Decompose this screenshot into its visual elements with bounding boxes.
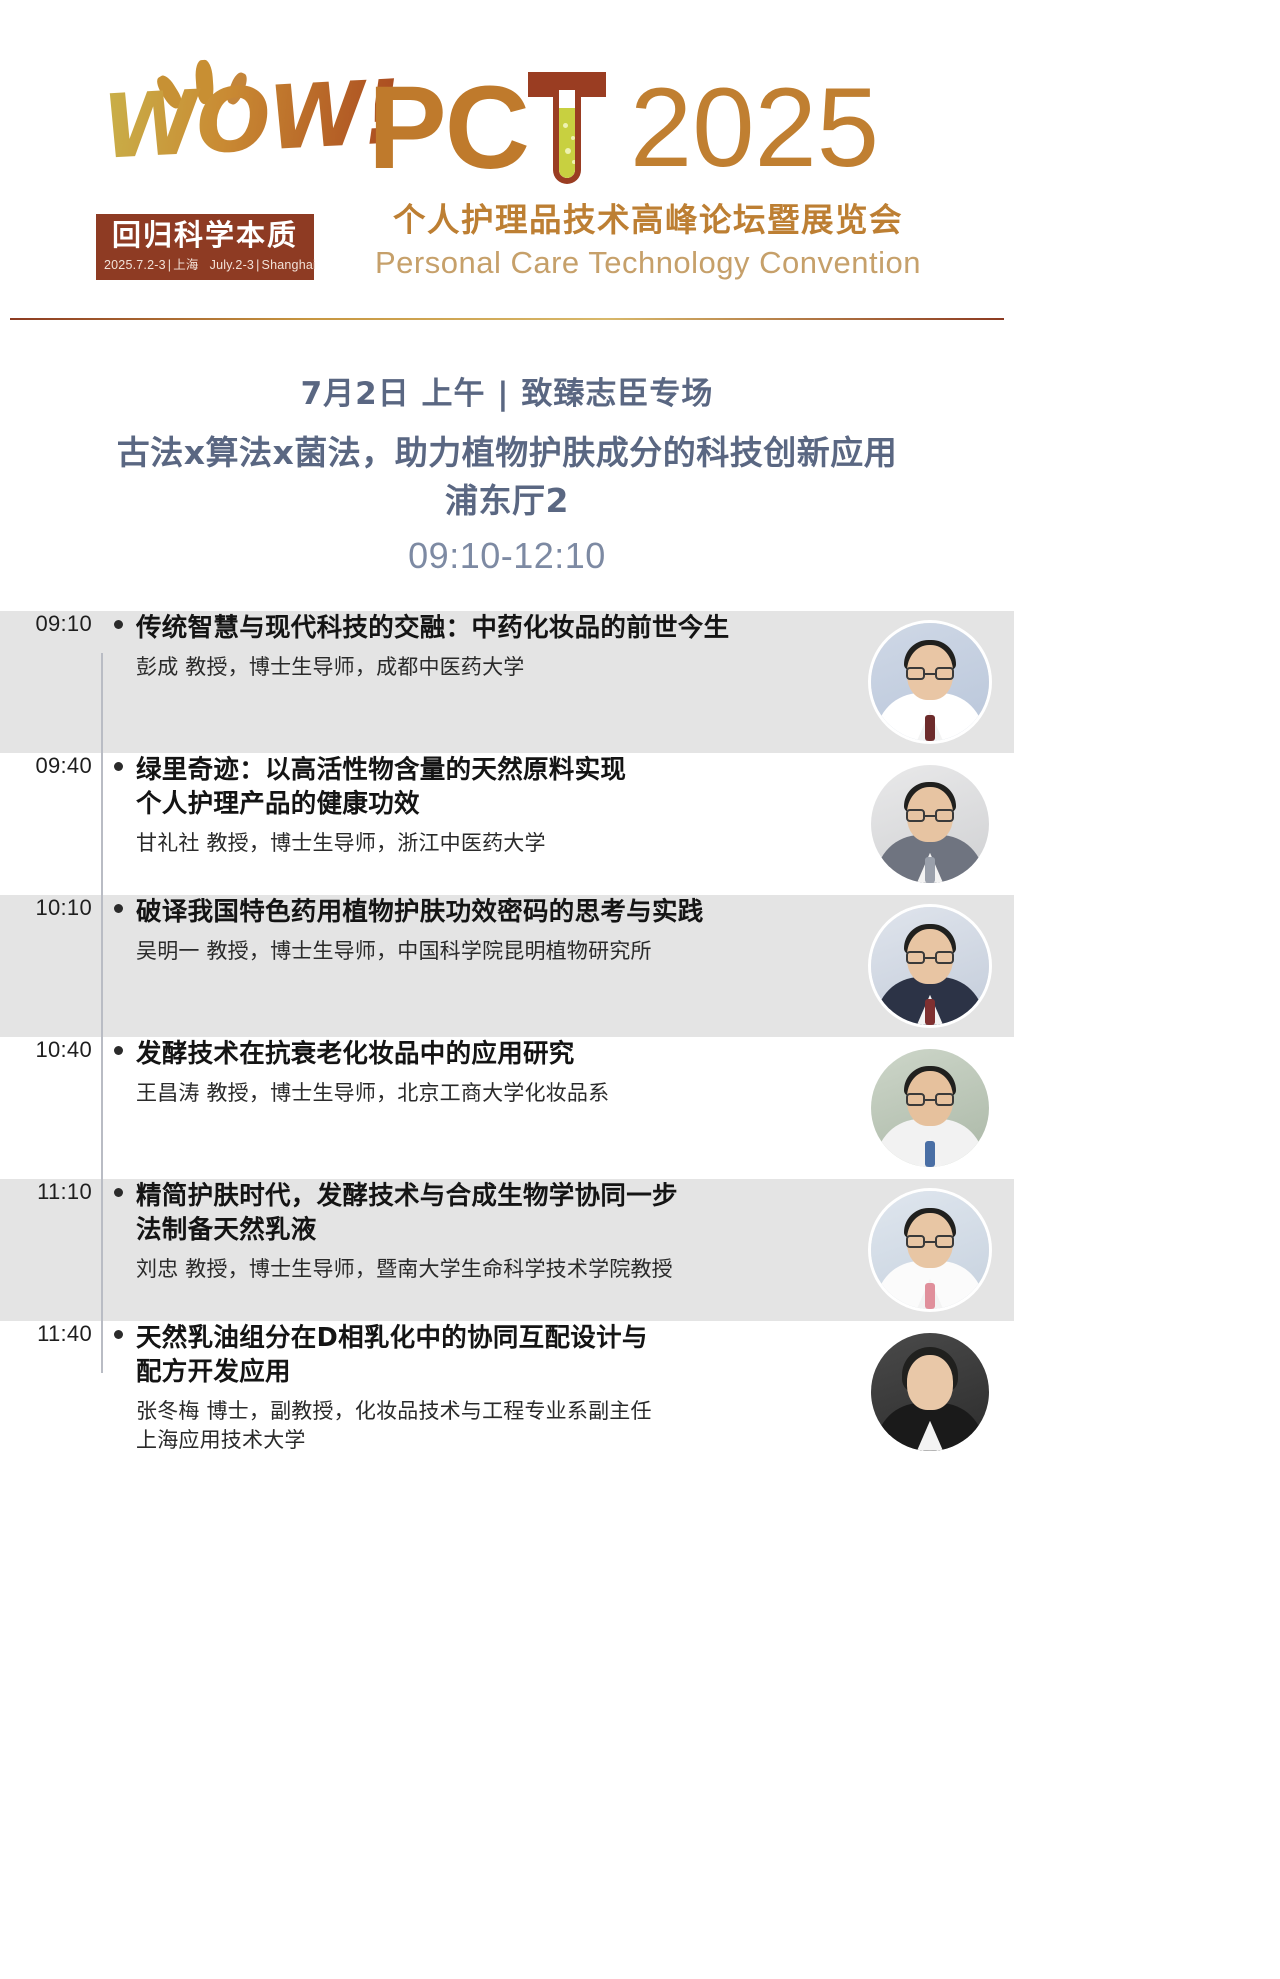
avatar (871, 1191, 989, 1309)
agenda-time: 11:10 (0, 1179, 100, 1205)
agenda-speaker: 刘忠 教授，博士生导师，暨南大学生命科学技术学院教授 (136, 1255, 826, 1284)
session-topic: 古法x算法x菌法，助力植物护肤成分的科技创新应用 (60, 429, 954, 477)
timeline-dot-icon (100, 1037, 136, 1055)
timeline-dot-icon (100, 1321, 136, 1339)
theme-badge-dateline: 2025.7.2-3|上海July.2-3|Shanghai (104, 254, 306, 273)
agenda-content: 天然乳油组分在D相乳化中的协同互配设计与配方开发应用张冬梅 博士，副教授，化妆品… (136, 1321, 846, 1455)
agenda-talk-title: 传统智慧与现代科技的交融：中药化妆品的前世今生 (136, 611, 826, 645)
agenda-time: 09:40 (0, 753, 100, 779)
agenda-content: 精简护肤时代，发酵技术与合成生物学协同一步法制备天然乳液刘忠 教授，博士生导师，… (136, 1179, 846, 1284)
badge-sep-2: | (254, 258, 261, 272)
agenda-speaker: 彭成 教授，博士生导师，成都中医药大学 (136, 653, 826, 682)
test-tube-icon (524, 62, 610, 184)
timeline-dot-icon (100, 895, 136, 913)
avatar-cell (846, 907, 1014, 1025)
timeline-dot-icon (100, 611, 136, 629)
avatar-cell (846, 1333, 1014, 1451)
brand-subtitle-cn: 个人护理品技术高峰论坛暨展览会 (368, 194, 928, 241)
page-header: WOW! WOW! 回归科学本质 2025.7.2-3|上海July.2-3|S… (0, 0, 1014, 320)
agenda-talk-title: 天然乳油组分在D相乳化中的协同互配设计与配方开发应用 (136, 1321, 826, 1389)
wow-logo-text: WOW! (100, 60, 402, 178)
avatar-cell (846, 623, 1014, 741)
agenda-content: 绿里奇迹：以高活性物含量的天然原料实现个人护理产品的健康功效甘礼社 教授，博士生… (136, 753, 846, 858)
avatar (871, 623, 989, 741)
agenda-row[interactable]: 10:40发酵技术在抗衰老化妆品中的应用研究王昌涛 教授，博士生导师，北京工商大… (0, 1037, 1014, 1179)
agenda-content: 破译我国特色药用植物护肤功效密码的思考与实践吴明一 教授，博士生导师，中国科学院… (136, 895, 846, 966)
avatar (871, 1049, 989, 1167)
badge-city-cn: 上海 (173, 258, 198, 272)
avatar (871, 907, 989, 1025)
session-header: 7月2日 上午 | 致臻志臣专场 古法x算法x菌法，助力植物护肤成分的科技创新应… (0, 320, 1014, 611)
header-divider (10, 318, 1004, 320)
agenda-row[interactable]: 11:10精简护肤时代，发酵技术与合成生物学协同一步法制备天然乳液刘忠 教授，博… (0, 1179, 1014, 1321)
brand-letters: PC (368, 72, 528, 184)
agenda-speaker: 吴明一 教授，博士生导师，中国科学院昆明植物研究所 (136, 937, 826, 966)
session-room: 浦东厅2 (60, 477, 954, 525)
theme-badge: 回归科学本质 2025.7.2-3|上海July.2-3|Shanghai (96, 214, 314, 280)
avatar-cell (846, 1049, 1014, 1167)
agenda-row[interactable]: 09:10传统智慧与现代科技的交融：中药化妆品的前世今生彭成 教授，博士生导师，… (0, 611, 1014, 753)
agenda-list: 09:10传统智慧与现代科技的交融：中药化妆品的前世今生彭成 教授，博士生导师，… (0, 611, 1014, 1493)
agenda-talk-title: 精简护肤时代，发酵技术与合成生物学协同一步法制备天然乳液 (136, 1179, 826, 1247)
wow-logo-art: WOW! WOW! (96, 50, 346, 210)
wow-logo-block: WOW! WOW! 回归科学本质 2025.7.2-3|上海July.2-3|S… (96, 50, 346, 280)
agenda-content: 发酵技术在抗衰老化妆品中的应用研究王昌涛 教授，博士生导师，北京工商大学化妆品系 (136, 1037, 846, 1108)
avatar (871, 765, 989, 883)
agenda-talk-title: 绿里奇迹：以高活性物含量的天然原料实现个人护理产品的健康功效 (136, 753, 826, 821)
badge-date-en: July.2-3 (210, 258, 254, 272)
agenda-time: 11:40 (0, 1321, 100, 1347)
agenda-speaker: 王昌涛 教授，博士生导师，北京工商大学化妆品系 (136, 1079, 826, 1108)
session-time-range: 09:10-12:10 (60, 535, 954, 577)
brand-year: 2025 (630, 72, 879, 184)
agenda-row[interactable]: 09:40绿里奇迹：以高活性物含量的天然原料实现个人护理产品的健康功效甘礼社 教… (0, 753, 1014, 895)
session-date-track: 7月2日 上午 | 致臻志臣专场 (60, 368, 954, 413)
agenda-content: 传统智慧与现代科技的交融：中药化妆品的前世今生彭成 教授，博士生导师，成都中医药… (136, 611, 846, 682)
agenda-time: 10:40 (0, 1037, 100, 1063)
badge-city-en: Shanghai (262, 258, 316, 272)
timeline-dot-icon (100, 1179, 136, 1197)
agenda-time: 09:10 (0, 611, 100, 637)
pct-brand-lockup: PC 2025 个人护理品技术高峰论坛暨展览会 Personal Care Te… (368, 62, 928, 281)
brand-subtitle-en: Personal Care Technology Convention (368, 245, 928, 281)
badge-date-cn: 2025.7.2-3 (104, 258, 166, 272)
timeline-rail (101, 653, 103, 1373)
theme-badge-title: 回归科学本质 (104, 220, 306, 251)
timeline-dot-icon (100, 753, 136, 771)
agenda-talk-title: 发酵技术在抗衰老化妆品中的应用研究 (136, 1037, 826, 1071)
agenda-time: 10:10 (0, 895, 100, 921)
agenda-row[interactable]: 11:40天然乳油组分在D相乳化中的协同互配设计与配方开发应用张冬梅 博士，副教… (0, 1321, 1014, 1463)
agenda-talk-title: 破译我国特色药用植物护肤功效密码的思考与实践 (136, 895, 826, 929)
agenda-speaker: 张冬梅 博士，副教授，化妆品技术与工程专业系副主任上海应用技术大学 (136, 1397, 826, 1455)
agenda-speaker: 甘礼社 教授，博士生导师，浙江中医药大学 (136, 829, 826, 858)
avatar (871, 1333, 989, 1451)
avatar-cell (846, 1191, 1014, 1309)
avatar-cell (846, 765, 1014, 883)
agenda-row[interactable]: 10:10破译我国特色药用植物护肤功效密码的思考与实践吴明一 教授，博士生导师，… (0, 895, 1014, 1037)
